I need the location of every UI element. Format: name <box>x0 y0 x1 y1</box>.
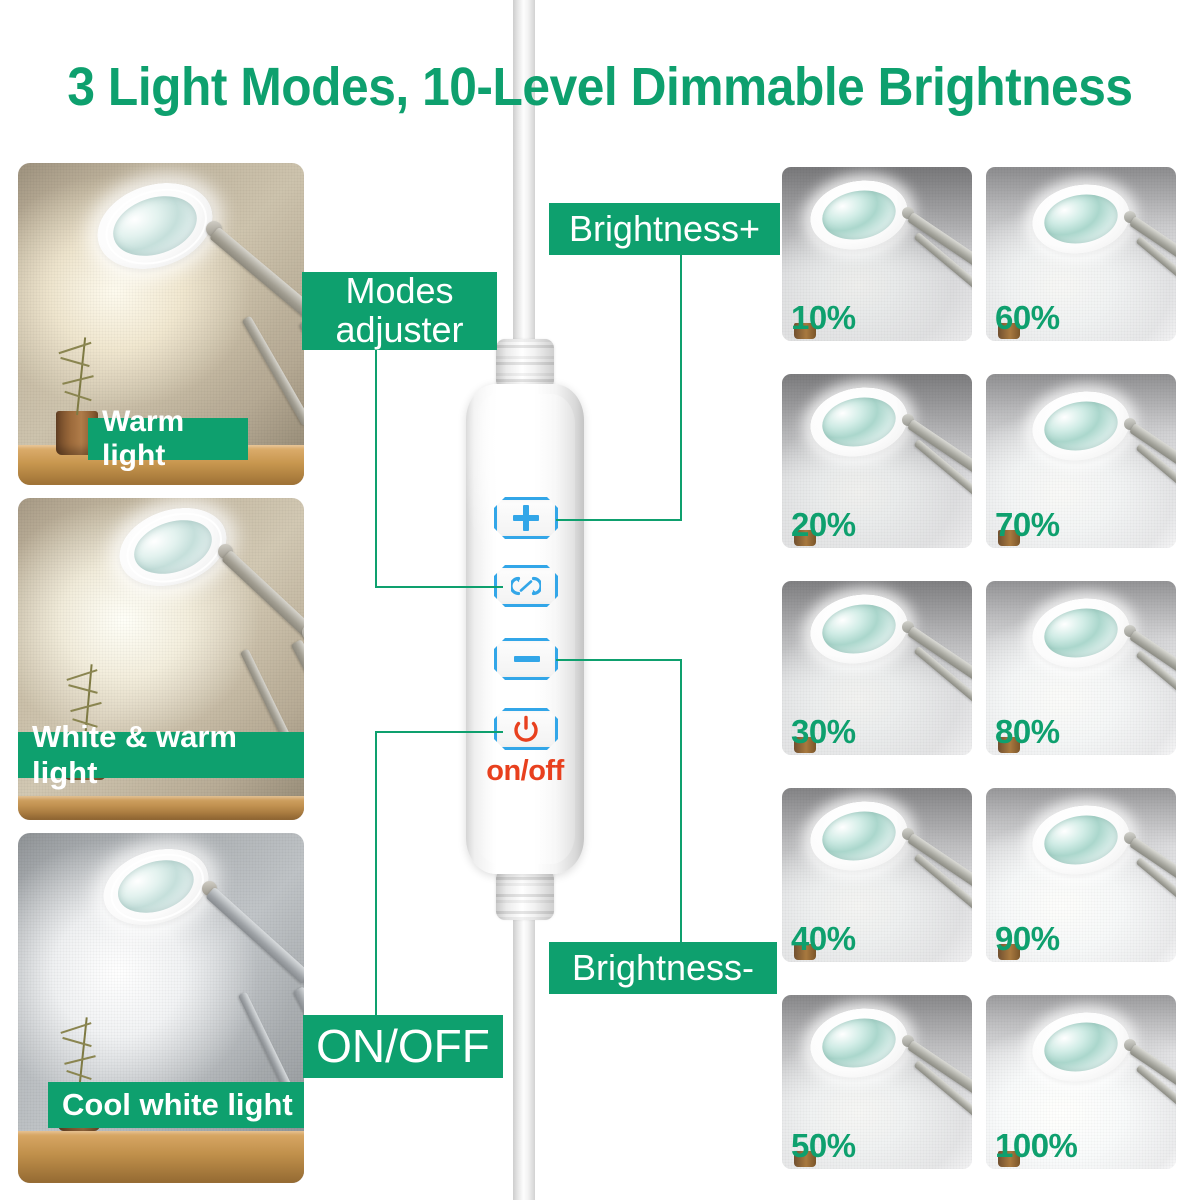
power-cable-upper <box>513 0 535 360</box>
leader-line-modes <box>375 350 377 588</box>
onoff-text: on/off <box>466 755 584 788</box>
brightness-percent-label: 20% <box>791 506 856 544</box>
brightness-thumbnail-10: 10% <box>782 167 972 341</box>
power-icon <box>512 715 540 743</box>
brightness-percent-label: 90% <box>995 920 1060 958</box>
leader-line-onoff <box>375 731 503 733</box>
brightness-thumbnail-80: 80% <box>986 581 1176 755</box>
power-button[interactable] <box>494 708 558 750</box>
page-title: 3 Light Modes, 10-Level Dimmable Brightn… <box>48 56 1152 118</box>
brightness-thumbnail-90: 90% <box>986 788 1176 962</box>
inline-dimmer-controller <box>466 384 584 874</box>
callout-onoff: ON/OFF <box>303 1015 503 1078</box>
callout-brightness-minus: Brightness- <box>549 942 777 994</box>
leader-line-brightness-plus <box>680 255 682 520</box>
brightness-percent-label: 50% <box>791 1127 856 1165</box>
brightness-down-button[interactable] <box>494 638 558 680</box>
brightness-percent-label: 10% <box>791 299 856 337</box>
brightness-thumbnail-100: 100% <box>986 995 1176 1169</box>
brightness-percent-label: 80% <box>995 713 1060 751</box>
desk-surface <box>18 796 304 820</box>
brightness-thumbnail-70: 70% <box>986 374 1176 548</box>
leader-line-brightness-plus <box>556 519 682 521</box>
cable-strain-relief-lower <box>496 868 554 920</box>
cycle-arrows-icon <box>511 573 541 599</box>
light-mode-photo-white-warm: White & warm light <box>18 498 304 820</box>
callout-brightness-plus: Brightness+ <box>549 203 780 255</box>
brightness-thumbnail-40: 40% <box>782 788 972 962</box>
mode-cycle-button[interactable] <box>494 565 558 607</box>
brightness-percent-label: 70% <box>995 506 1060 544</box>
brightness-thumbnail-30: 30% <box>782 581 972 755</box>
light-mode-photo-cool-white: Cool white light <box>18 833 304 1183</box>
leader-line-brightness-minus <box>556 659 682 661</box>
brightness-thumbnail-60: 60% <box>986 167 1176 341</box>
light-mode-photo-warm: Warm light <box>18 163 304 485</box>
brightness-percent-label: 100% <box>995 1127 1077 1165</box>
photo-label-white-warm-light: White & warm light <box>18 732 304 778</box>
leader-line-onoff <box>375 731 377 1017</box>
brightness-thumbnail-20: 20% <box>782 374 972 548</box>
desk-surface <box>18 1131 304 1183</box>
brightness-percent-label: 60% <box>995 299 1060 337</box>
callout-modes-adjuster: Modes adjuster <box>302 272 497 350</box>
leader-line-modes <box>375 586 503 588</box>
power-cable-lower <box>513 905 535 1200</box>
minus-icon <box>513 646 539 672</box>
leader-line-brightness-minus <box>680 659 682 944</box>
brightness-thumbnail-50: 50% <box>782 995 972 1169</box>
plus-icon <box>513 505 539 531</box>
brightness-percent-label: 30% <box>791 713 856 751</box>
brightness-percent-label: 40% <box>791 920 856 958</box>
brightness-up-button[interactable] <box>494 497 558 539</box>
photo-label-warm-light: Warm light <box>88 418 248 460</box>
photo-label-cool-white-light: Cool white light <box>48 1082 304 1128</box>
